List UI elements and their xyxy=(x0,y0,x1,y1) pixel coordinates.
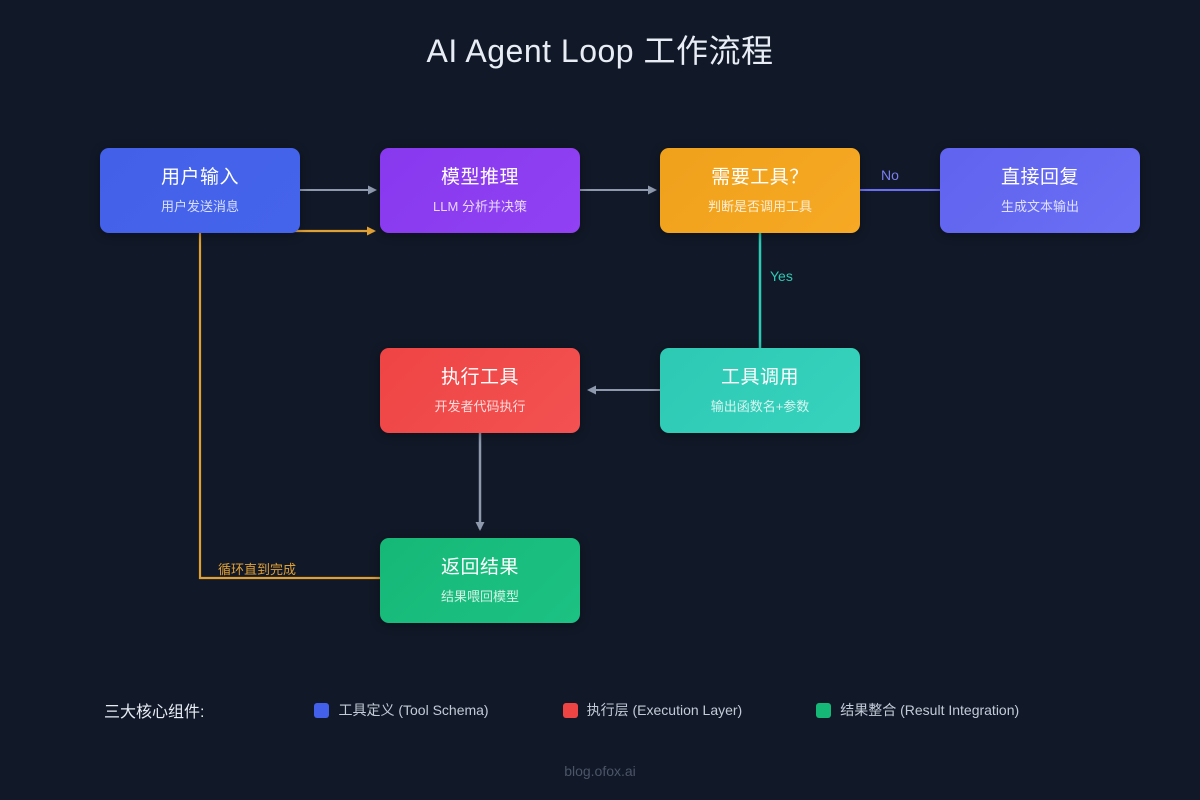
node-subtitle: 输出函数名+参数 xyxy=(711,399,810,415)
diagram-canvas: AI Agent Loop 工作流程 用户输入 用户发送消息 xyxy=(0,0,1200,800)
node-title: 模型推理 xyxy=(441,167,519,190)
legend-title: 三大核心组件: xyxy=(104,698,204,722)
node-subtitle: 用户发送消息 xyxy=(161,199,239,215)
edge-label-loop: 循环直到完成 xyxy=(218,559,296,578)
legend-item-label: 执行层 (Execution Layer) xyxy=(587,700,743,720)
legend-swatch-icon xyxy=(816,703,831,718)
node-title: 需要工具？ xyxy=(711,167,809,190)
edge-label-no: No xyxy=(881,167,899,183)
node-exec-tool[interactable]: 执行工具 开发者代码执行 xyxy=(380,348,580,433)
node-title: 返回结果 xyxy=(441,557,519,580)
node-subtitle: 结果喂回模型 xyxy=(441,589,519,605)
node-model-reasoning[interactable]: 模型推理 LLM 分析并决策 xyxy=(380,148,580,233)
node-title: 直接回复 xyxy=(1001,167,1079,190)
node-subtitle: 判断是否调用工具 xyxy=(708,199,812,215)
edge-layer xyxy=(0,0,1200,800)
node-user-input[interactable]: 用户输入 用户发送消息 xyxy=(100,148,300,233)
node-tool-call[interactable]: 工具调用 输出函数名+参数 xyxy=(660,348,860,433)
legend-item-label: 工具定义 (Tool Schema) xyxy=(338,700,488,720)
edge-label-yes: Yes xyxy=(770,268,793,284)
edge-return-result-to-model-reasoning xyxy=(200,231,380,578)
node-need-tool[interactable]: 需要工具？ 判断是否调用工具 xyxy=(660,148,860,233)
legend-item-tool-schema: 工具定义 (Tool Schema) xyxy=(314,700,488,720)
legend: 三大核心组件: 工具定义 (Tool Schema) 执行层 (Executio… xyxy=(104,697,1104,723)
legend-swatch-icon xyxy=(563,703,578,718)
page-title: AI Agent Loop 工作流程 xyxy=(0,26,1200,72)
node-title: 工具调用 xyxy=(721,367,799,390)
node-return-result[interactable]: 返回结果 结果喂回模型 xyxy=(380,538,580,623)
node-title: 用户输入 xyxy=(161,167,239,190)
node-subtitle: 生成文本输出 xyxy=(1001,199,1079,215)
legend-item-result-integration: 结果整合 (Result Integration) xyxy=(816,700,1019,720)
node-subtitle: 开发者代码执行 xyxy=(434,399,525,415)
legend-item-execution-layer: 执行层 (Execution Layer) xyxy=(563,700,743,720)
node-title: 执行工具 xyxy=(441,367,519,390)
legend-swatch-icon xyxy=(314,703,329,718)
legend-item-label: 结果整合 (Result Integration) xyxy=(840,700,1019,720)
footer-watermark: blog.ofox.ai xyxy=(0,763,1200,779)
node-direct-reply[interactable]: 直接回复 生成文本输出 xyxy=(940,148,1140,233)
node-subtitle: LLM 分析并决策 xyxy=(433,199,527,215)
